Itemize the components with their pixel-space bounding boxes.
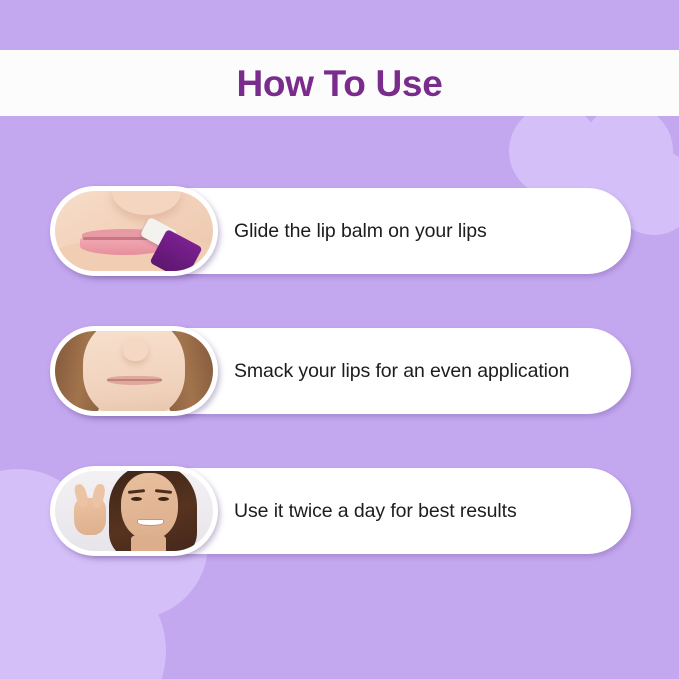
face-shape bbox=[121, 473, 178, 540]
list-item: Glide the lip balm on your lips bbox=[0, 188, 679, 274]
clover-lobe bbox=[509, 105, 601, 197]
how-to-use-infographic: How To Use Glide the lip balm on your li… bbox=[0, 0, 679, 679]
lips-illustration-icon bbox=[55, 191, 213, 271]
step-text-3: Use it twice a day for best results bbox=[234, 500, 517, 523]
steps-list: Glide the lip balm on your lips bbox=[0, 188, 679, 608]
mouth-line-shape bbox=[107, 379, 162, 381]
face-illustration-icon bbox=[55, 331, 213, 411]
neck-shape bbox=[131, 535, 166, 551]
header-band: How To Use bbox=[0, 50, 679, 116]
page-title: How To Use bbox=[237, 65, 443, 102]
list-item: Smack your lips for an even application bbox=[0, 328, 679, 414]
lips-applying-lip-balm-image bbox=[55, 191, 213, 271]
eye-right-shape bbox=[158, 497, 169, 501]
clover-lobe bbox=[581, 105, 673, 197]
woman-smiling-peace-sign-image bbox=[55, 471, 213, 551]
eye-left-shape bbox=[131, 497, 142, 501]
nose-shape bbox=[123, 337, 148, 361]
step-text-1: Glide the lip balm on your lips bbox=[234, 220, 487, 243]
step-thumbnail-3 bbox=[50, 466, 218, 556]
nose-shape bbox=[112, 191, 182, 215]
list-item: Use it twice a day for best results bbox=[0, 468, 679, 554]
step-thumbnail-2 bbox=[50, 326, 218, 416]
step-text-2: Smack your lips for an even application bbox=[234, 360, 569, 383]
step-thumbnail-1 bbox=[50, 186, 218, 276]
smiling-woman-illustration-icon bbox=[55, 471, 213, 551]
woman-smacking-lips-image bbox=[55, 331, 213, 411]
